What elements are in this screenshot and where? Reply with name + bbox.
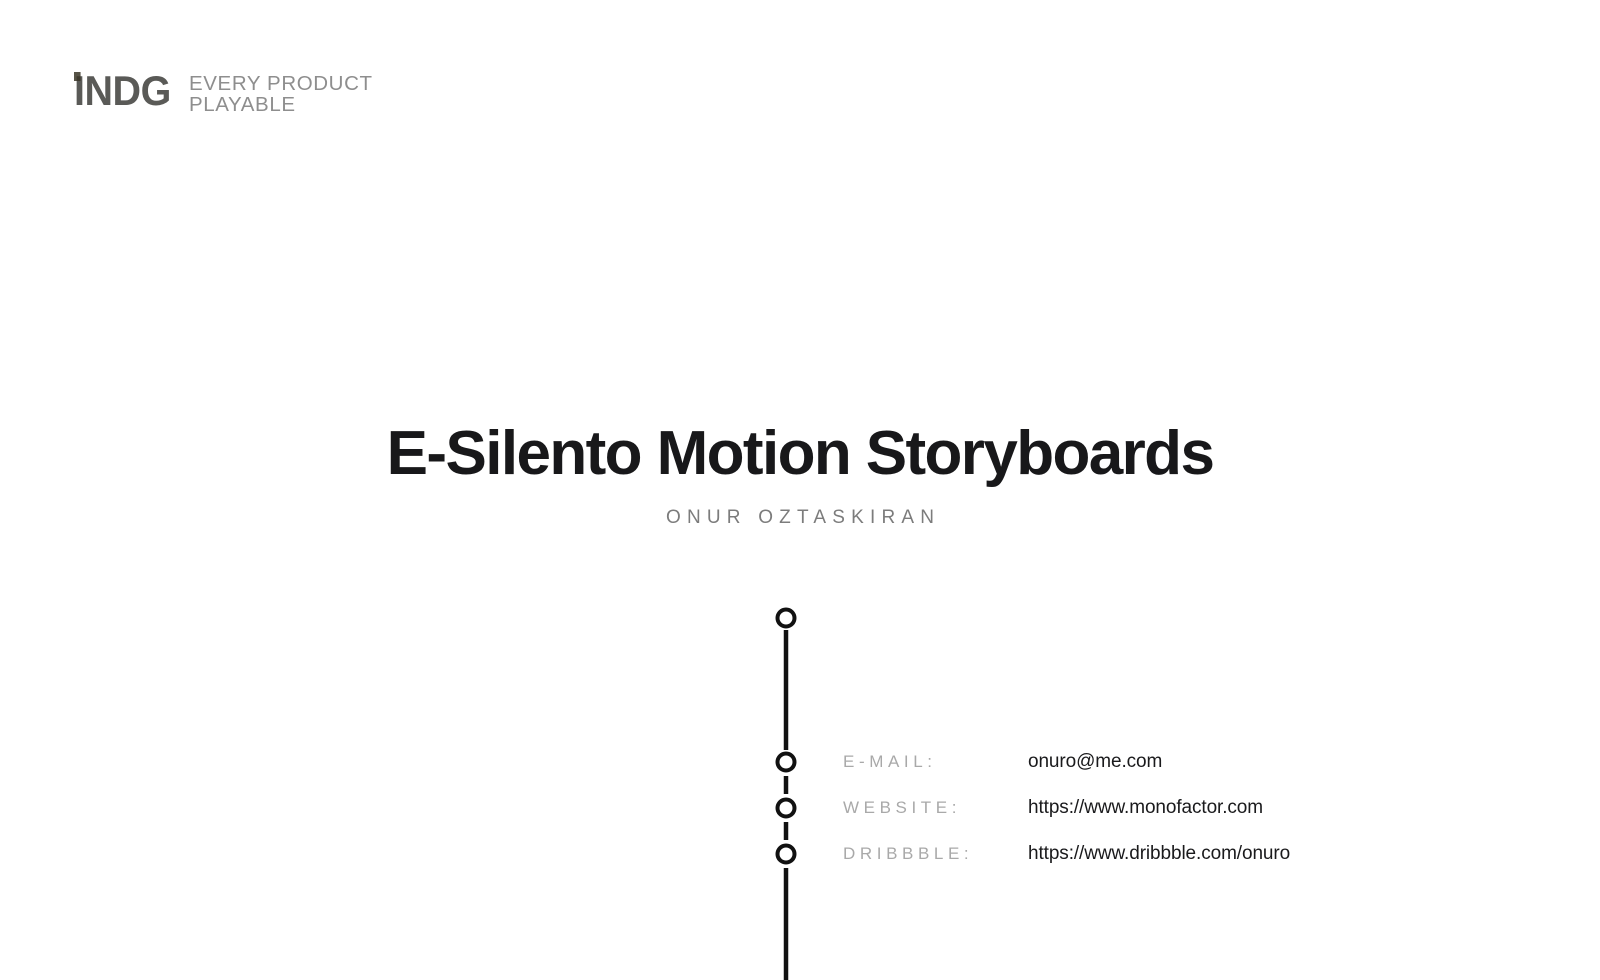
contact-value-email[interactable]: onuro@me.com [1028, 751, 1162, 773]
timeline-node-1 [778, 610, 795, 627]
contact-label-dribbble: DRIBBBLE: [843, 844, 1028, 864]
timeline-graphic [0, 600, 1600, 980]
timeline-node-2-email [778, 754, 795, 771]
contact-timeline: E-MAIL: onuro@me.com WEBSITE: https://ww… [0, 600, 1600, 980]
contact-row-dribbble: DRIBBBLE: https://www.dribbble.com/onuro [843, 842, 1463, 866]
contact-label-email: E-MAIL: [843, 752, 1028, 772]
contact-label-website: WEBSITE: [843, 798, 1028, 818]
indg-logo-wordmark: INDG [74, 70, 171, 112]
timeline-node-3-website [778, 800, 795, 817]
contact-row-website: WEBSITE: https://www.monofactor.com [843, 796, 1463, 820]
slide-canvas: INDG EVERY PRODUCT PLAYABLE E-Silento Mo… [0, 0, 1600, 980]
brand-tagline: EVERY PRODUCT PLAYABLE [189, 73, 373, 115]
contact-row-email: E-MAIL: onuro@me.com [843, 750, 1463, 774]
contact-value-dribbble[interactable]: https://www.dribbble.com/onuro [1028, 843, 1290, 865]
contact-value-website[interactable]: https://www.monofactor.com [1028, 797, 1263, 819]
title-block: E-Silento Motion Storyboards ONUR OZTASK… [0, 418, 1600, 529]
brand-lockup: INDG EVERY PRODUCT PLAYABLE [74, 70, 373, 115]
timeline-node-4-dribbble [778, 846, 795, 863]
author-subtitle: ONUR OZTASKIRAN [0, 507, 1600, 529]
page-title: E-Silento Motion Storyboards [0, 418, 1600, 490]
